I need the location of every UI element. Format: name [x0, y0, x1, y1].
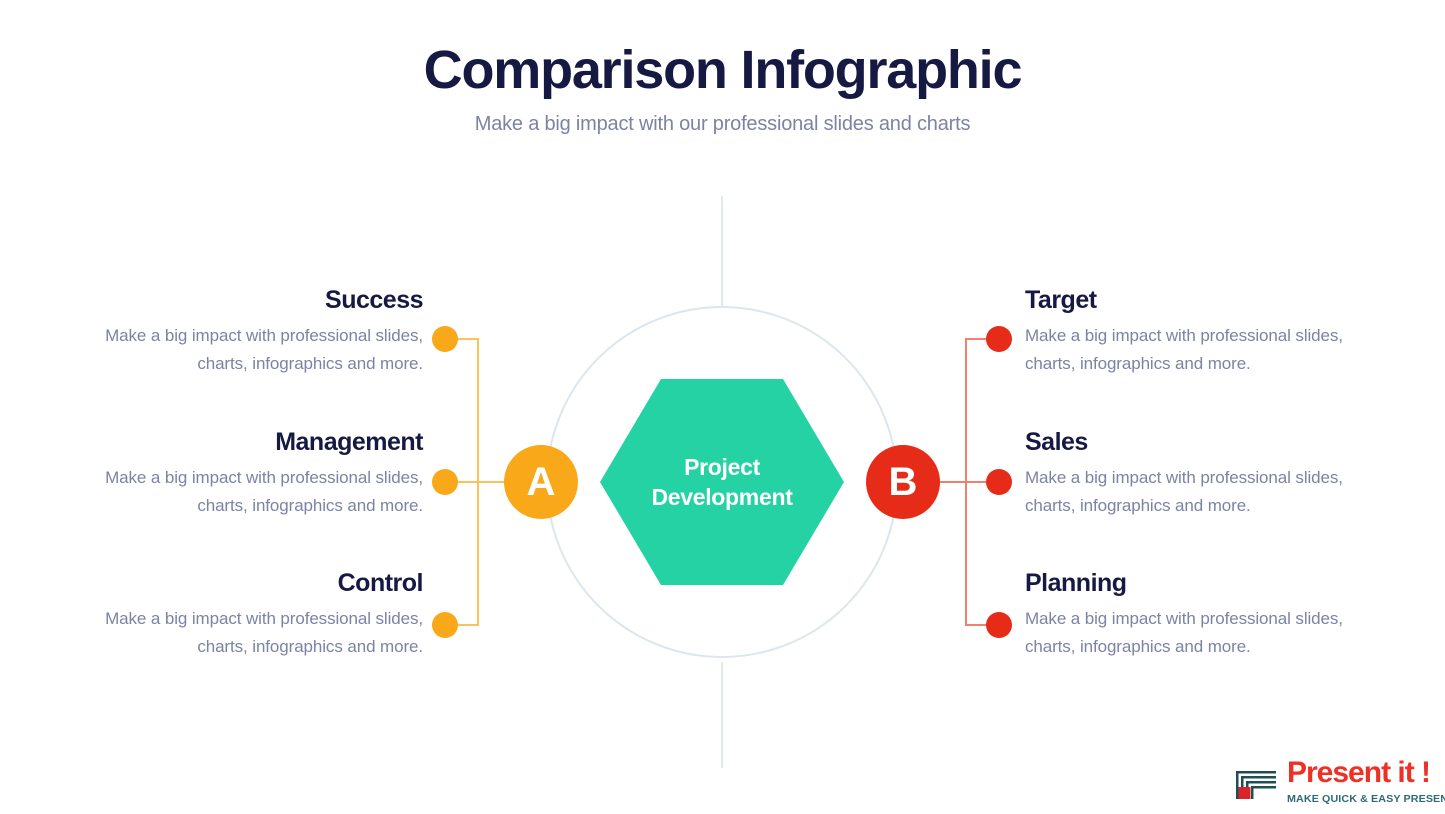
brand-logo[interactable]: Present it ! MAKE QUICK & EASY PRESENTAT… — [1234, 757, 1445, 805]
connector-node-right-3[interactable] — [986, 612, 1012, 638]
connector-node-right-2[interactable] — [986, 469, 1012, 495]
badge-a-label: A — [527, 460, 556, 505]
logo-text-block: Present it ! MAKE QUICK & EASY PRESENTAT… — [1287, 757, 1445, 805]
vertical-divider-bottom — [721, 662, 723, 768]
connector-bracket-right — [965, 338, 967, 626]
infographic-slide: Comparison Infographic Make a big impact… — [0, 0, 1445, 814]
list-item-control[interactable]: Control Make a big impact with professio… — [93, 569, 423, 660]
connector-node-left-2[interactable] — [432, 469, 458, 495]
item-title: Sales — [1025, 428, 1355, 457]
logo-wordmark: Present it ! — [1287, 758, 1445, 788]
item-title: Control — [93, 569, 423, 598]
list-item-management[interactable]: Management Make a big impact with profes… — [93, 428, 423, 519]
item-description: Make a big impact with professional slid… — [93, 605, 423, 660]
item-description: Make a big impact with professional slid… — [93, 464, 423, 519]
list-item-success[interactable]: Success Make a big impact with professio… — [93, 286, 423, 377]
item-title: Planning — [1025, 569, 1355, 598]
logo-tagline: MAKE QUICK & EASY PRESENTATIONS — [1287, 793, 1445, 805]
center-hexagon-label: Project Development — [651, 452, 792, 513]
connector-bracket-left — [477, 338, 479, 626]
badge-a[interactable]: A — [504, 445, 578, 519]
badge-b[interactable]: B — [866, 445, 940, 519]
item-description: Make a big impact with professional slid… — [93, 322, 423, 377]
item-title: Target — [1025, 286, 1355, 315]
item-title: Success — [93, 286, 423, 315]
vertical-divider-top — [721, 196, 723, 306]
header: Comparison Infographic Make a big impact… — [0, 42, 1445, 136]
connector-node-right-1[interactable] — [986, 326, 1012, 352]
item-title: Management — [93, 428, 423, 457]
item-description: Make a big impact with professional slid… — [1025, 322, 1355, 377]
nested-squares-logo-icon — [1234, 757, 1278, 801]
item-description: Make a big impact with professional slid… — [1025, 464, 1355, 519]
page-title: Comparison Infographic — [0, 42, 1445, 99]
badge-b-label: B — [889, 460, 918, 505]
list-item-target[interactable]: Target Make a big impact with profession… — [1025, 286, 1355, 377]
item-description: Make a big impact with professional slid… — [1025, 605, 1355, 660]
connector-node-left-1[interactable] — [432, 326, 458, 352]
list-item-sales[interactable]: Sales Make a big impact with professiona… — [1025, 428, 1355, 519]
page-subtitle: Make a big impact with our professional … — [0, 113, 1445, 136]
connector-node-left-3[interactable] — [432, 612, 458, 638]
list-item-planning[interactable]: Planning Make a big impact with professi… — [1025, 569, 1355, 660]
